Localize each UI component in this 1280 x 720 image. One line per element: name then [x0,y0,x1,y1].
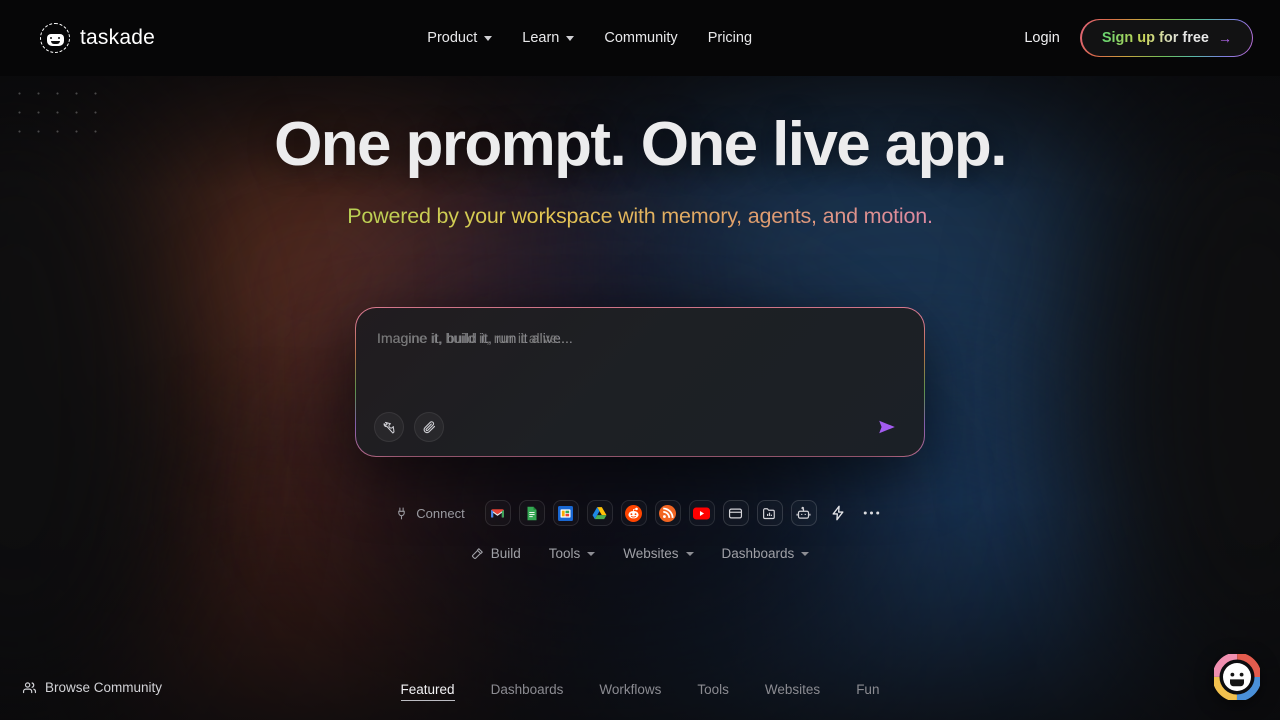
chevron-down-icon [587,552,595,556]
google-docs-icon[interactable] [519,500,545,526]
nav-item-community[interactable]: Community [604,30,677,46]
connect-label: Connect [416,506,464,521]
hero-section: One prompt. One live app. Powered by you… [0,76,1280,720]
rss-icon[interactable] [655,500,681,526]
build-item-dashboards[interactable]: Dashboards [722,546,810,561]
ellipsis-icon[interactable] [859,500,885,526]
taskade-mascot-badge-icon[interactable] [1214,654,1260,700]
build-item-build-label: Build [491,546,521,561]
google-slides-icon[interactable] [553,500,579,526]
wrench-icon[interactable] [374,412,404,442]
paperclip-icon[interactable] [414,412,444,442]
chevron-down-icon [566,36,574,41]
page-title: One prompt. One live app. [0,109,1280,180]
card-icon[interactable] [723,500,749,526]
chevron-down-icon [686,552,694,556]
folder-chart-icon[interactable] [757,500,783,526]
tab-dashboards[interactable]: Dashboards [491,682,564,701]
chevron-down-icon [484,36,492,41]
build-item-build[interactable]: Build [471,546,521,561]
brand-name: taskade [80,26,155,50]
nav-item-pricing-label: Pricing [708,30,752,46]
lightning-icon[interactable] [825,500,851,526]
build-item-dashboards-label: Dashboards [722,546,795,561]
tab-workflows[interactable]: Workflows [599,682,661,701]
landing-page: taskade Product Learn Community Pricing … [0,0,1280,720]
reddit-icon[interactable] [621,500,647,526]
plug-icon [395,507,408,520]
signup-button[interactable]: Sign up for free → [1082,20,1252,56]
signup-button-label: Sign up for free [1102,30,1209,46]
nav-item-community-label: Community [604,30,677,46]
main-nav: Product Learn Community Pricing [427,30,752,46]
nav-item-learn[interactable]: Learn [522,30,574,46]
page-subtitle: Powered by your workspace with memory, a… [0,204,1280,229]
nav-item-pricing[interactable]: Pricing [708,30,752,46]
composer-tool-row [374,412,444,442]
connect-label-group[interactable]: Connect [395,506,464,521]
build-item-tools-label: Tools [549,546,581,561]
youtube-icon[interactable] [689,500,715,526]
brand-logo[interactable]: taskade [40,23,155,53]
build-item-websites[interactable]: Websites [623,546,693,561]
top-navigation-bar: taskade Product Learn Community Pricing … [0,0,1280,76]
connect-row: Connect [0,500,1280,526]
build-filter-row: Build Tools Websites Dashboards [0,546,1280,561]
auth-actions: Login Sign up for free → [1024,20,1252,56]
tab-websites[interactable]: Websites [765,682,820,701]
nav-item-learn-label: Learn [522,30,559,46]
robot-icon[interactable] [791,500,817,526]
arrow-right-icon: → [1218,30,1232,46]
login-button[interactable]: Login [1024,30,1059,46]
send-button[interactable] [872,412,902,442]
tab-fun[interactable]: Fun [856,682,879,701]
gmail-icon[interactable] [485,500,511,526]
build-item-websites-label: Websites [623,546,678,561]
nav-item-product-label: Product [427,30,477,46]
footer-tabs: Featured Dashboards Workflows Tools Webs… [0,682,1280,701]
tab-tools[interactable]: Tools [697,682,729,701]
google-drive-icon[interactable] [587,500,613,526]
prompt-composer: Imagine it, build it, run it alive... [356,308,924,456]
build-item-tools[interactable]: Tools [549,546,596,561]
footer-bar: Browse Community Featured Dashboards Wor… [0,668,1280,720]
chevron-down-icon [801,552,809,556]
prompt-composer-inner: Imagine it, build it, run it alive... [356,308,924,456]
taskade-sheep-logo-icon [40,23,70,53]
hammer-icon [471,547,484,560]
nav-item-product[interactable]: Product [427,30,492,46]
tab-featured[interactable]: Featured [401,682,455,701]
